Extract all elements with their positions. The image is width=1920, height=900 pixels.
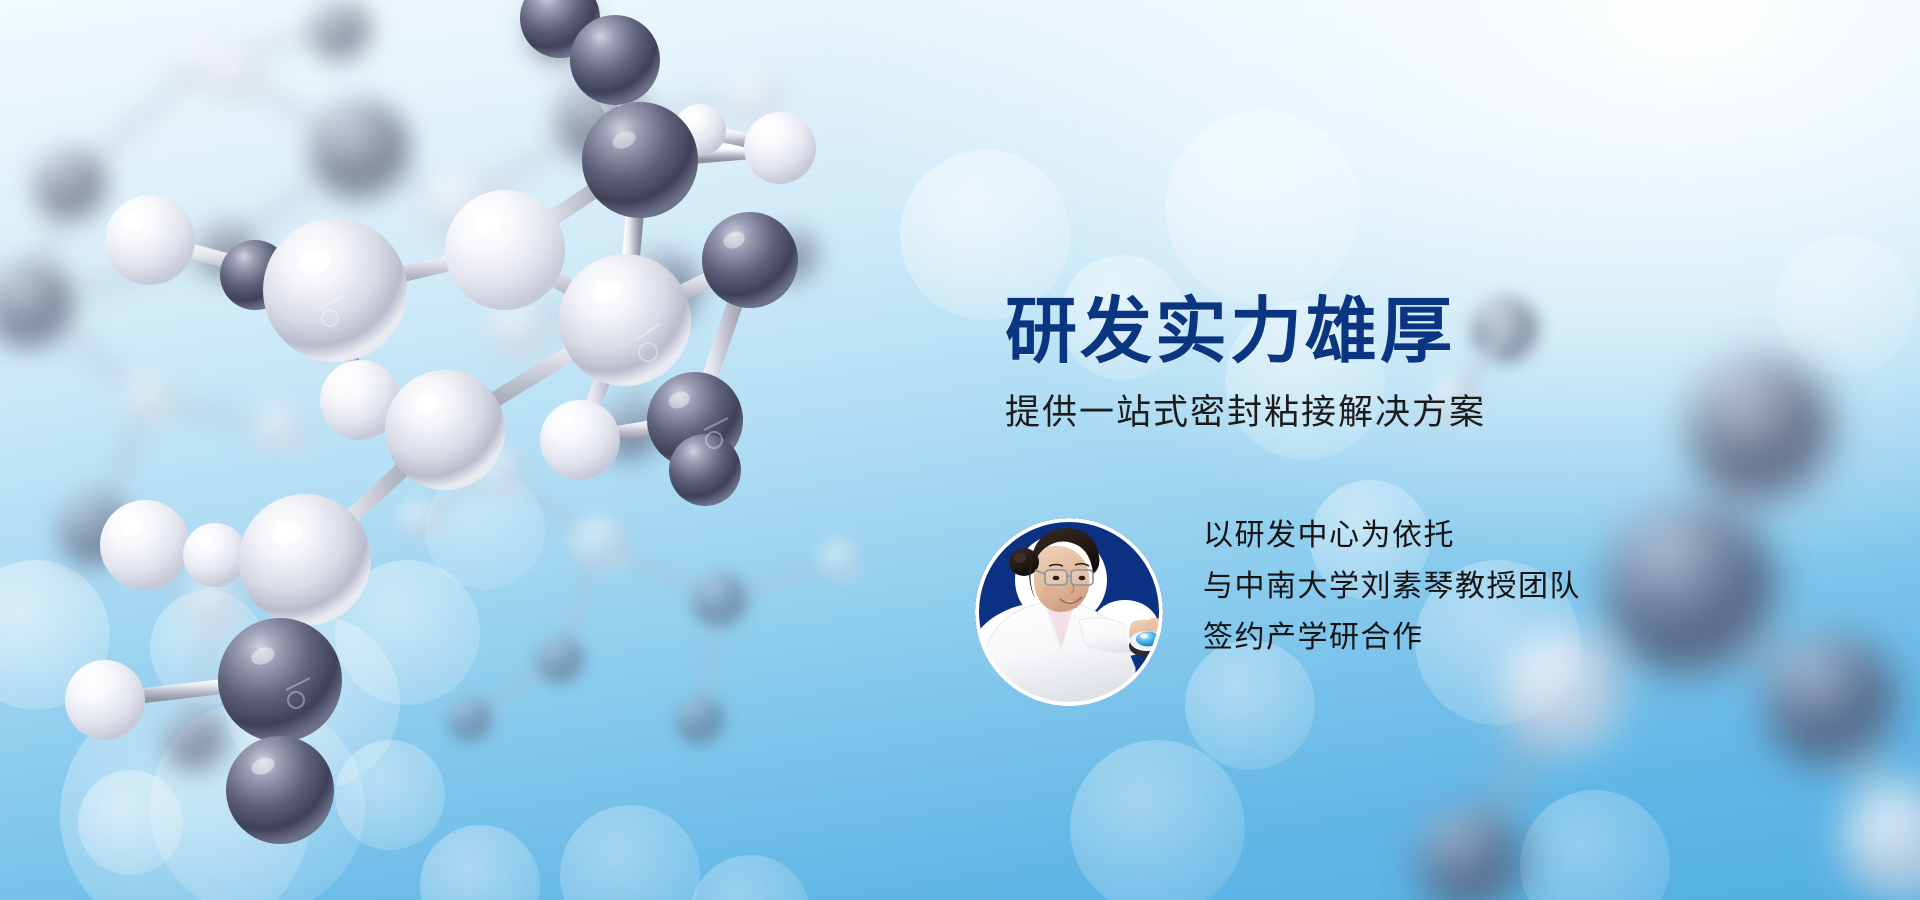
bokeh-circle-icon (0, 560, 110, 710)
list-item: 与中南大学刘素琴教授团队 (1203, 561, 1581, 612)
bokeh-circle-icon (1520, 790, 1670, 900)
bokeh-circle-icon (78, 770, 183, 875)
molecule-foreground (65, 0, 816, 844)
page-subtitle: 提供一站式密封粘接解决方案 (1005, 384, 1705, 435)
bokeh-circle-icon (150, 700, 365, 900)
bokeh-circle-icon (335, 560, 480, 705)
photo-clip (975, 518, 1163, 706)
list-item: 签约产学研合作 (1203, 612, 1581, 663)
hero-lower-block: 以研发中心为依托 与中南大学刘素琴教授团队 签约产学研合作 (975, 510, 1735, 740)
bokeh-circle-icon (420, 825, 540, 900)
bokeh-circle-icon (150, 590, 265, 705)
list-item: 以研发中心为依托 (1203, 510, 1581, 561)
bokeh-circle-icon (425, 470, 545, 590)
bokeh-circle-icon (690, 855, 810, 900)
bokeh-circle-icon (1775, 235, 1915, 375)
researcher-illustration (975, 518, 1163, 706)
page-title: 研发实力雄厚 (1005, 295, 1705, 367)
bokeh-circle-icon (1070, 740, 1245, 900)
bokeh-circle-icon (60, 690, 310, 900)
molecule-icon (0, 0, 1920, 900)
bokeh-circle-icon (560, 805, 700, 900)
hero-banner: 研发实力雄厚 提供一站式密封粘接解决方案 (0, 0, 1920, 900)
hero-bullet-list: 以研发中心为依托 与中南大学刘素琴教授团队 签约产学研合作 (1203, 510, 1581, 663)
researcher-photo-icon (975, 518, 1163, 706)
bokeh-circle-icon (335, 740, 445, 850)
hero-copy: 研发实力雄厚 提供一站式密封粘接解决方案 (1005, 295, 1705, 435)
bokeh-circle-icon (1165, 110, 1360, 305)
bokeh-circle-icon (225, 615, 400, 790)
